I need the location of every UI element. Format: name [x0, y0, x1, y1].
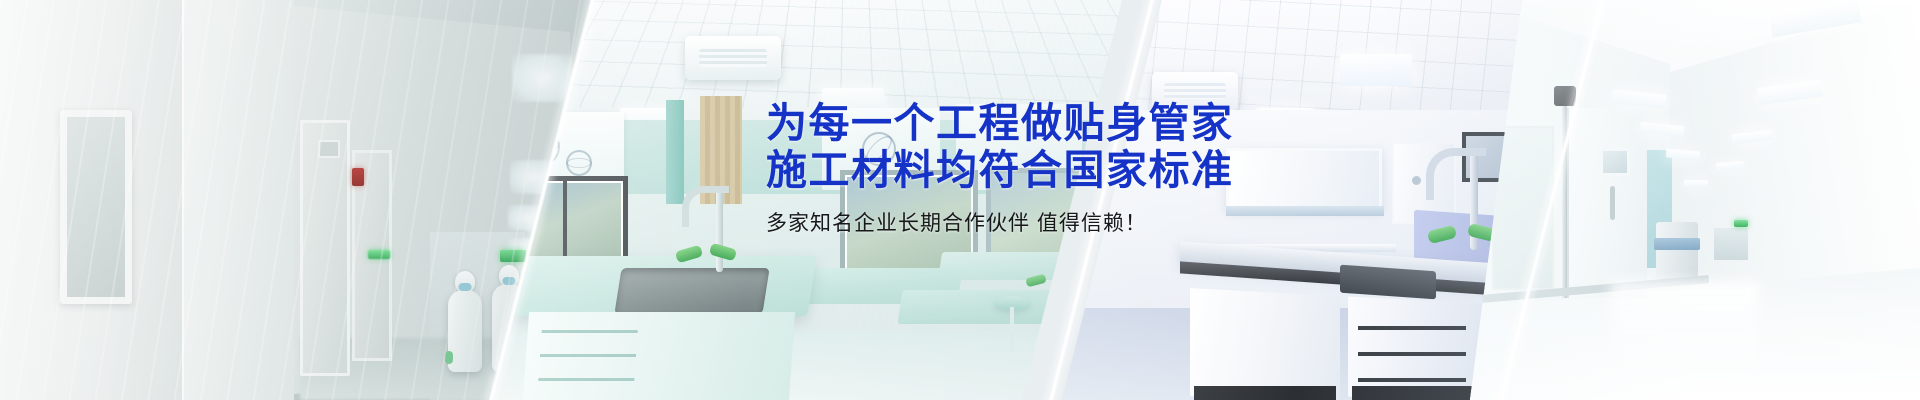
- hero-banner: 为每一个工程做贴身管家 施工材料均符合国家标准 多家知名企业长期合作伙伴 值得信…: [0, 0, 1920, 400]
- banner-headline-line-1: 为每一个工程做贴身管家: [766, 100, 1406, 147]
- hospital-corridor-scene: [1470, 0, 1920, 400]
- banner-subheadline: 多家知名企业长期合作伙伴 值得信赖！: [766, 210, 1406, 238]
- banner-panel-hospital-corridor: [1470, 0, 1920, 400]
- banner-headline-line-2: 施工材料均符合国家标准: [766, 147, 1406, 194]
- panel-haze-overlay: [1470, 0, 1920, 400]
- banner-copy-block: 为每一个工程做贴身管家 施工材料均符合国家标准 多家知名企业长期合作伙伴 值得信…: [766, 100, 1406, 238]
